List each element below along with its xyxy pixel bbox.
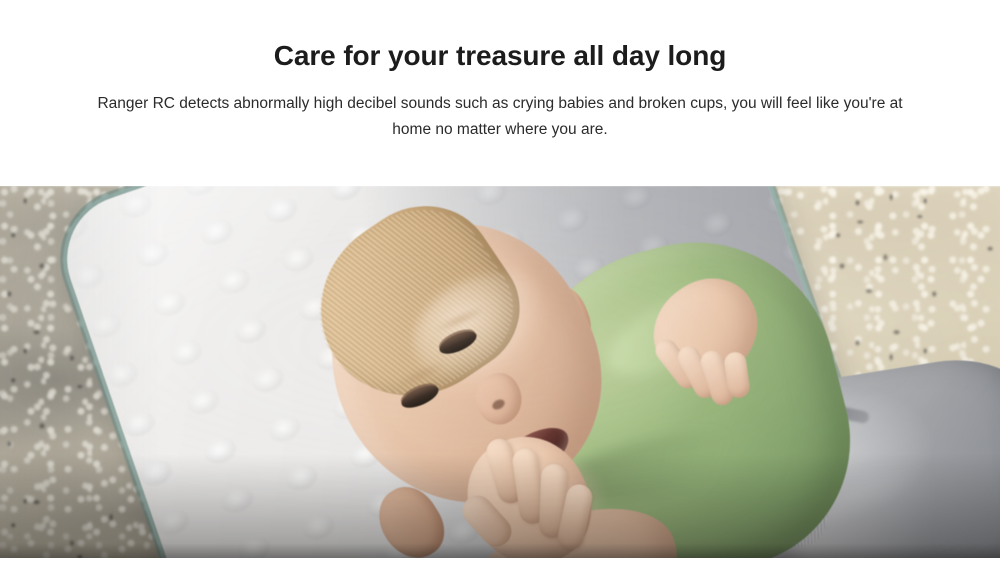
hero-image <box>0 186 1000 558</box>
page-title: Care for your treasure all day long <box>0 38 1000 74</box>
hero-text-block: Care for your treasure all day long Rang… <box>0 0 1000 186</box>
baby-figure <box>0 186 1000 558</box>
footer-whitespace <box>0 558 1000 567</box>
page-subtitle-line-1: Ranger RC detects abnormally high decibe… <box>97 95 811 112</box>
product-feature-page: Care for your treasure all day long Rang… <box>0 0 1000 567</box>
page-subtitle: Ranger RC detects abnormally high decibe… <box>85 91 915 143</box>
